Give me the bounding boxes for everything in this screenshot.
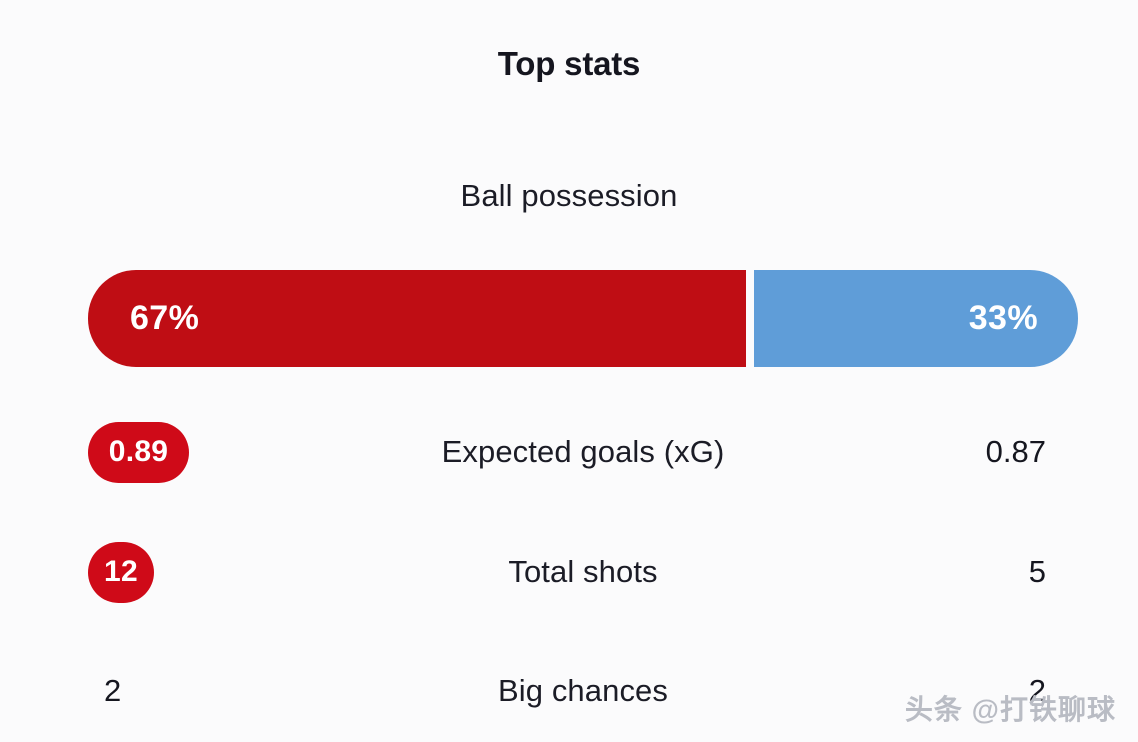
possession-bar-divider [746, 270, 754, 367]
away-value-big-chances: 2 [1029, 673, 1046, 709]
ball-possession-label: Ball possession [0, 178, 1138, 214]
home-value-badge-expected-goals: 0.89 [88, 422, 189, 483]
stat-away-big-chances: 2 [868, 673, 1078, 709]
away-value-total-shots: 5 [1029, 554, 1046, 590]
possession-home-value: 67% [130, 299, 199, 338]
stat-label-expected-goals: Expected goals (xG) [298, 434, 868, 470]
ball-possession-bar: 67% 33% [88, 270, 1078, 367]
stat-row-expected-goals: 0.89 Expected goals (xG) 0.87 [88, 416, 1078, 488]
home-value-big-chances: 2 [104, 673, 121, 709]
stat-away-expected-goals: 0.87 [868, 434, 1078, 470]
stat-label-total-shots: Total shots [298, 554, 868, 590]
away-value-expected-goals: 0.87 [986, 434, 1046, 470]
stat-row-total-shots: 12 Total shots 5 [88, 536, 1078, 608]
page-title: Top stats [0, 45, 1138, 83]
possession-bar-home-segment: 67% [88, 270, 746, 367]
stat-row-big-chances: 2 Big chances 2 [88, 655, 1078, 727]
possession-bar-away-segment: 33% [754, 270, 1078, 367]
stat-home-big-chances: 2 [88, 673, 298, 709]
possession-away-value: 33% [969, 299, 1038, 338]
home-value-badge-total-shots: 12 [88, 542, 154, 603]
stat-home-expected-goals: 0.89 [88, 422, 298, 483]
stat-home-total-shots: 12 [88, 542, 298, 603]
stat-label-big-chances: Big chances [298, 673, 868, 709]
stat-away-total-shots: 5 [868, 554, 1078, 590]
